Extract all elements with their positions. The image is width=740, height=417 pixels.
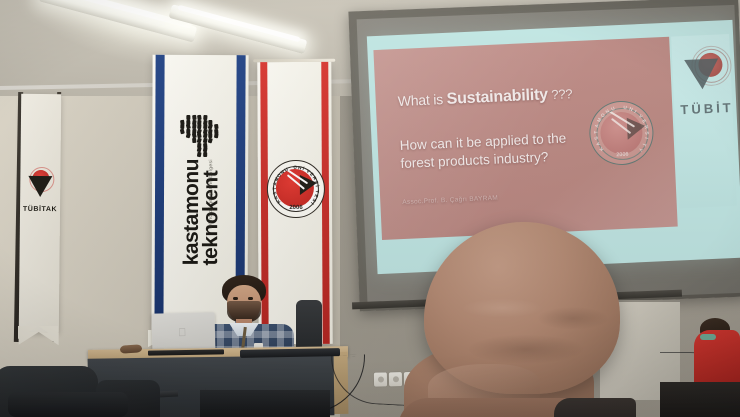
outlet-1[interactable] <box>374 372 387 386</box>
slide-question: How can it be applied to theforest produ… <box>399 129 580 174</box>
slide-heading: What is Sustainability ??? <box>397 85 572 111</box>
banner-tubitak-label: TÜBİTAK <box>20 206 60 213</box>
tubitak-logo-icon <box>25 170 55 204</box>
banner-edge-left <box>154 55 164 345</box>
tubitak-logo-icon <box>684 50 728 100</box>
banner-notch-shape <box>18 326 58 339</box>
banner-tubitak: TÜBİTAK <box>19 94 61 332</box>
foreground-attendee <box>398 222 630 417</box>
seal-year: 2006 <box>268 205 324 211</box>
slide-seal-ring-text: KASTAMONU UNIVERSITY <box>589 101 654 166</box>
slide-tubitak-label: TÜBİT <box>680 100 734 117</box>
slide-right-logo-panel: TÜBİT <box>671 34 737 208</box>
teknokent-tree-logo-icon <box>176 115 224 157</box>
kastamonu-universitesi-seal-icon: KASTAMONU ÜNİVERSİTESİ 2006 <box>267 160 325 218</box>
slide-content-area: What is Sustainability ??? How can it be… <box>373 37 677 240</box>
banner-teknokent-label: kastamonuteknokent <box>182 159 221 266</box>
attendee-dark-garment <box>554 398 636 417</box>
foreground-chair-3 <box>200 390 330 417</box>
slide-presenter-credit: Assoc.Prof. B. Çağrı BAYRAM <box>402 195 498 206</box>
apple-logo-icon:  <box>178 328 187 339</box>
foreground-chair-arm <box>8 392 128 417</box>
slide-university-seal-icon: KASTAMONU UNIVERSITY 2006 <box>588 100 655 167</box>
banner-teknokent-subtitle: teknoloji geliştirme bölgesi <box>208 159 214 229</box>
presentation-room-photo: TÜBİTAK kastamonuteknokent teknoloji gel… <box>0 0 740 417</box>
right-foreground-chair <box>660 382 740 417</box>
presenter-eye-right <box>248 297 253 300</box>
slide-seal-year: 2006 <box>591 151 653 160</box>
right-attendee-collar <box>700 334 716 340</box>
presenter-eye-left <box>233 297 238 300</box>
